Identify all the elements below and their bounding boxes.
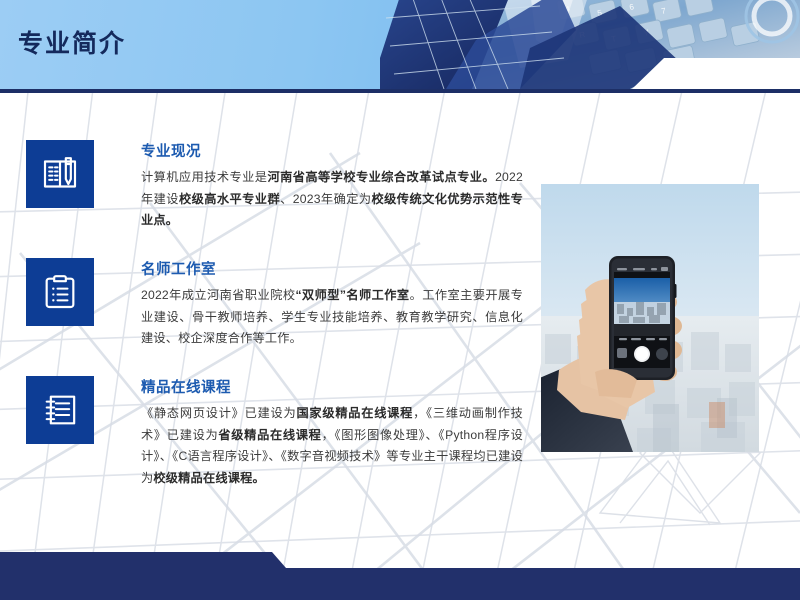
section-text-2: 精品在线课程 《静态网页设计》已建设为国家级精品在线课程，《三维动画制作技术》已…	[141, 376, 523, 489]
section-icon-box-1[interactable]	[26, 258, 94, 326]
section-title-1: 名师工作室	[141, 258, 523, 279]
notebook-pen-icon	[40, 154, 80, 194]
section-text-0: 专业现况 计算机应用技术专业是河南省高等学校专业综合改革试点专业。2022年建设…	[141, 140, 523, 232]
page-header: 4 5 6 7 R T Y	[0, 0, 800, 89]
spiral-notebook-icon	[40, 390, 80, 430]
section-title-0: 专业现况	[141, 140, 523, 161]
header-bottom-rule	[0, 89, 800, 93]
section-icon-box-0[interactable]	[26, 140, 94, 208]
section-icon-box-2[interactable]	[26, 376, 94, 444]
section-body-1: 2022年成立河南省职业院校“双师型”名师工作室。工作室主要开展专业建设、骨干教…	[141, 285, 523, 350]
smartphone-cityscape-photo	[541, 184, 759, 452]
section-text-1: 名师工作室 2022年成立河南省职业院校“双师型”名师工作室。工作室主要开展专业…	[141, 258, 523, 350]
keyboard-banner-decoration: 4 5 6 7 R T Y	[380, 0, 800, 89]
section-body-0: 计算机应用技术专业是河南省高等学校专业综合改革试点专业。2022年建设校级高水平…	[141, 167, 523, 232]
section-title-2: 精品在线课程	[141, 376, 523, 397]
section-body-2: 《静态网页设计》已建设为国家级精品在线课程，《三维动画制作技术》已建设为省级精品…	[141, 403, 523, 489]
footer-band	[0, 540, 800, 600]
clipboard-list-icon	[40, 272, 80, 312]
page-title: 专业简介	[18, 24, 126, 60]
